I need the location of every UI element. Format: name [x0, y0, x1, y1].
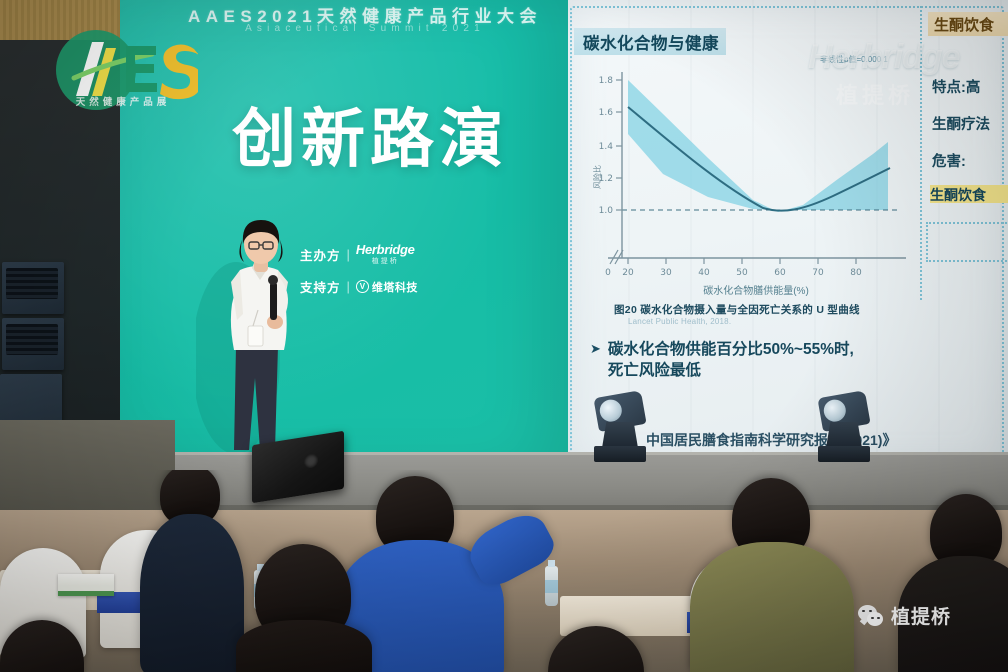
panel-highlight: 生酮饮食	[930, 185, 1008, 203]
bullet-text: 碳水化合物供能百分比50%~55%时, 死亡风险最低	[608, 340, 854, 382]
slide-bullet: ➤ 碳水化合物供能百分比50%~55%时, 死亡风险最低	[590, 340, 950, 382]
chart-x-label: 碳水化合物膳供能量(%)	[703, 284, 809, 297]
water-bottle	[545, 566, 558, 606]
panel-line-2: 生酮疗法	[932, 113, 1008, 134]
svg-text:50: 50	[736, 268, 748, 278]
speaker-grille	[6, 324, 58, 355]
attendee-body	[236, 620, 372, 672]
light-lens	[598, 398, 623, 423]
footer-citation: 中国居民膳食指南科学研究报告(2021)》	[646, 430, 976, 450]
svg-text:60: 60	[774, 268, 786, 278]
svg-text:20: 20	[622, 268, 634, 278]
svg-text:1.6: 1.6	[599, 108, 614, 118]
chart-svg: 1.8 1.6 1.4 1.2 1.0 0	[588, 62, 918, 312]
slide-title: 碳水化合物与健康	[574, 28, 726, 55]
svg-text:1.4: 1.4	[599, 142, 614, 152]
light-lens	[822, 398, 847, 423]
panel-line-3: 危害:	[932, 150, 1008, 171]
svg-text:70: 70	[812, 268, 824, 278]
supporter-logo: V 维塔科技	[356, 279, 418, 295]
bullet-arrow-icon: ➤	[590, 340, 601, 382]
figure-source: Lancet Public Health, 2018.	[628, 317, 928, 326]
svg-text:1.0: 1.0	[599, 206, 614, 216]
panel-line-1: 特点:高	[932, 76, 1008, 97]
organizer-logo: Herbridge 植提桥	[356, 243, 415, 265]
conference-photo-scene: 天然健康产品展 AAES2021天然健康产品行业大会 Asiaceutical …	[0, 0, 1008, 672]
svg-text:80: 80	[850, 268, 862, 278]
wechat-eye	[871, 617, 874, 620]
bullet-line-2: 死亡风险最低	[608, 362, 701, 379]
organizer-name-en: Herbridge	[356, 243, 415, 256]
svg-text:0: 0	[605, 268, 611, 278]
conference-subtitle: Asiaceutical Summit 2021	[185, 23, 545, 34]
chart-y-label: 风险比	[592, 165, 602, 189]
light-base	[818, 446, 870, 462]
moving-head-light-right	[818, 394, 870, 464]
chart: 1.8 1.6 1.4 1.2 1.0 0	[588, 62, 918, 312]
presenter	[196, 218, 326, 458]
light-yoke	[602, 422, 638, 448]
chart-confidence-band	[628, 80, 888, 212]
wechat-watermark-text: 植提桥	[891, 602, 951, 629]
wechat-icon	[858, 605, 884, 627]
supporter-mark-icon: V	[356, 280, 369, 293]
aes-logo-subtitle: 天然健康产品展	[50, 94, 196, 108]
line-array-speaker-mid	[2, 318, 64, 370]
wechat-eye	[862, 610, 865, 613]
line-array-speaker-top	[2, 262, 64, 314]
wechat-eye	[877, 617, 880, 620]
svg-text:30: 30	[660, 268, 672, 278]
slide-title-text: 碳水化合物与健康	[583, 30, 719, 54]
main-title: 创新路演	[200, 88, 540, 180]
figure-caption: 图20 碳水化合物摄入量与全因死亡关系的 U 型曲线	[614, 302, 914, 317]
speaker-grille	[6, 268, 58, 299]
supporter-name: 维塔科技	[372, 279, 418, 295]
svg-text:1.8: 1.8	[599, 76, 614, 86]
bullet-line-1: 碳水化合物供能百分比50%~55%时,	[608, 341, 854, 358]
organizer-divider: |	[347, 247, 350, 262]
supporter-divider: |	[347, 279, 350, 294]
light-base	[594, 446, 646, 462]
moving-head-light-left	[594, 394, 646, 464]
panel-title-text: 生酮饮食	[934, 14, 994, 35]
attendee-body	[690, 542, 854, 672]
table-booklet	[58, 574, 114, 596]
svg-text:40: 40	[698, 268, 710, 278]
organizer-name-cn: 植提桥	[372, 258, 399, 265]
wechat-watermark: 植提桥	[858, 602, 951, 629]
wechat-bubble-front	[867, 612, 883, 626]
light-yoke	[826, 422, 862, 448]
attendee-body	[140, 514, 244, 672]
panel-title: 生酮饮食	[928, 12, 1008, 36]
panel-dotted-box	[926, 222, 1008, 262]
audience-area	[0, 470, 1008, 672]
